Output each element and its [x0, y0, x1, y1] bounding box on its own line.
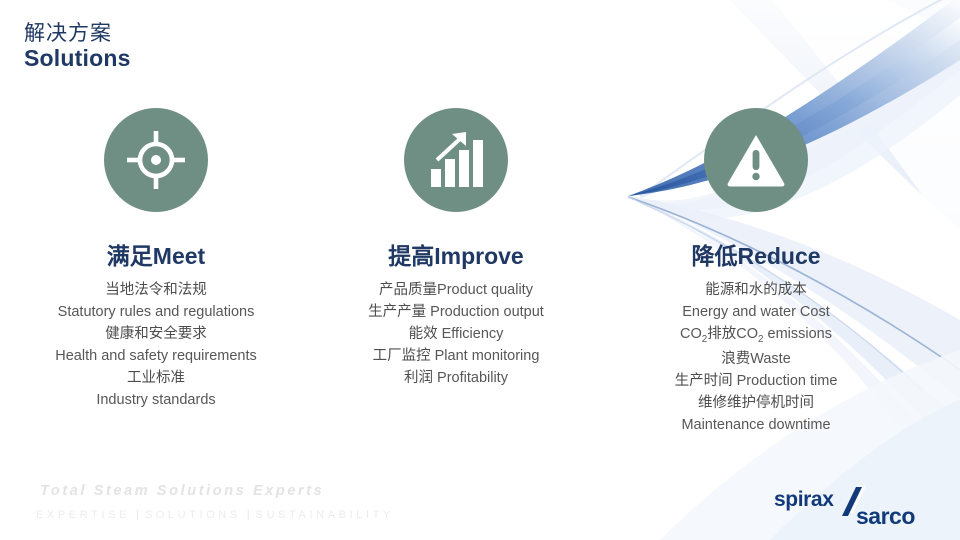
list-item-en: Efficiency	[442, 326, 504, 342]
list-item-cn: 维修维护停机时间	[698, 395, 814, 411]
list-item-en: Health and safety requirements	[55, 348, 257, 364]
solution-column-meet: 满足Meet 当地法令和法规 Statutory rules and regul…	[6, 108, 306, 436]
list-item-en: Industry standards	[96, 392, 215, 408]
list-item: 利润 Profitability	[368, 367, 544, 389]
list-item-en: Production time	[737, 373, 838, 389]
list-item-en: Production output	[430, 304, 544, 320]
footer-pillar-solutions: SOLUTIONS	[145, 509, 241, 521]
list-item: 生产产量 Production output	[368, 301, 544, 323]
list-item: 生产时间 Production time	[675, 370, 838, 392]
warning-triangle-icon	[704, 108, 808, 212]
column-heading-reduce: 降低Reduce	[691, 244, 820, 270]
list-item-en: Statutory rules and regulations	[58, 304, 255, 320]
column-heading-meet: 满足Meet	[107, 244, 205, 270]
logo-text-spirax: spirax	[774, 488, 834, 511]
list-item-cn: 生产时间	[675, 373, 733, 389]
list-item-en: Energy and water Cost	[682, 304, 830, 320]
footer-tagline: Total Steam Solutions Experts	[40, 483, 324, 499]
list-item-cn: 能效	[409, 326, 438, 342]
list-item: 健康和安全要求	[55, 323, 257, 345]
solution-column-improve: 提高Improve 产品质量Product quality 生产产量 Produ…	[306, 108, 606, 436]
co2-label-en: CO2	[736, 326, 763, 342]
list-item: 当地法令和法规	[55, 279, 257, 301]
footer-pillars: EXPERTISE | SOLUTIONS | SUSTAINABILITY	[36, 509, 394, 521]
list-item-en: Waste	[750, 351, 791, 367]
list-item: 维修维护停机时间	[675, 392, 838, 414]
list-item: Industry standards	[55, 389, 257, 411]
list-item-cn: 浪费	[721, 351, 750, 367]
slide-canvas: 解决方案 Solutions 满足Meet	[0, 0, 960, 540]
list-item-cn: 生产产量	[368, 304, 426, 320]
solution-column-reduce: 降低Reduce 能源和水的成本 Energy and water Cost C…	[606, 108, 906, 436]
list-item: 工厂监控 Plant monitoring	[368, 345, 544, 367]
list-item-cn: 工厂监控	[373, 348, 431, 364]
list-item-cn: 能源和水的成本	[705, 282, 807, 298]
column-heading-improve: 提高Improve	[388, 244, 523, 270]
list-item-co2: CO2排放CO2 emissions	[675, 323, 838, 348]
footer-pillar-sustainability: SUSTAINABILITY	[256, 509, 394, 521]
list-item-en: Plant monitoring	[435, 348, 540, 364]
column-body-reduce: 能源和水的成本 Energy and water Cost CO2排放CO2 e…	[675, 279, 838, 436]
list-item: 浪费Waste	[675, 348, 838, 370]
page-title: 解决方案 Solutions	[24, 22, 131, 71]
footer-pillar-separator: |	[136, 509, 139, 521]
list-item-cn: 产品质量	[379, 282, 437, 298]
column-body-improve: 产品质量Product quality 生产产量 Production outp…	[368, 279, 544, 389]
list-item-en: Product quality	[437, 282, 533, 298]
column-heading-improve-en: Improve	[434, 243, 523, 269]
column-body-meet: 当地法令和法规 Statutory rules and regulations …	[55, 279, 257, 411]
list-item-cn: 利润	[404, 370, 433, 386]
column-heading-meet-en: Meet	[153, 243, 205, 269]
solutions-columns: 满足Meet 当地法令和法规 Statutory rules and regul…	[0, 108, 960, 436]
list-item-cn: 健康和安全要求	[105, 326, 207, 342]
bar-chart-growth-icon	[404, 108, 508, 212]
co2-emissions-en: emissions	[763, 326, 832, 342]
logo-text-sarco: sarco	[856, 503, 915, 529]
column-heading-meet-cn: 满足	[107, 244, 153, 270]
page-title-chinese: 解决方案	[24, 22, 131, 44]
page-title-english: Solutions	[24, 46, 131, 70]
footer-pillar-separator: |	[247, 509, 250, 521]
co2-emissions-cn: 排放	[707, 326, 736, 342]
footer-pillar-expertise: EXPERTISE	[36, 509, 130, 521]
list-item-cn: 工业标准	[127, 370, 185, 386]
list-item-en: Maintenance downtime	[681, 417, 830, 433]
column-heading-improve-cn: 提高	[388, 244, 434, 270]
column-heading-reduce-en: Reduce	[737, 243, 820, 269]
list-item: 能源和水的成本	[675, 279, 838, 301]
list-item: Maintenance downtime	[675, 414, 838, 436]
co2-label-cn: CO2	[680, 326, 707, 342]
target-crosshair-icon	[104, 108, 208, 212]
list-item-cn: 当地法令和法规	[105, 282, 207, 298]
list-item: 能效 Efficiency	[368, 323, 544, 345]
list-item: Health and safety requirements	[55, 345, 257, 367]
spirax-sarco-logo: spirax sarco	[772, 486, 942, 532]
list-item: 产品质量Product quality	[368, 279, 544, 301]
list-item: 工业标准	[55, 367, 257, 389]
list-item-en: Profitability	[437, 370, 508, 386]
list-item: Statutory rules and regulations	[55, 301, 257, 323]
column-heading-reduce-cn: 降低	[691, 244, 737, 270]
list-item: Energy and water Cost	[675, 301, 838, 323]
